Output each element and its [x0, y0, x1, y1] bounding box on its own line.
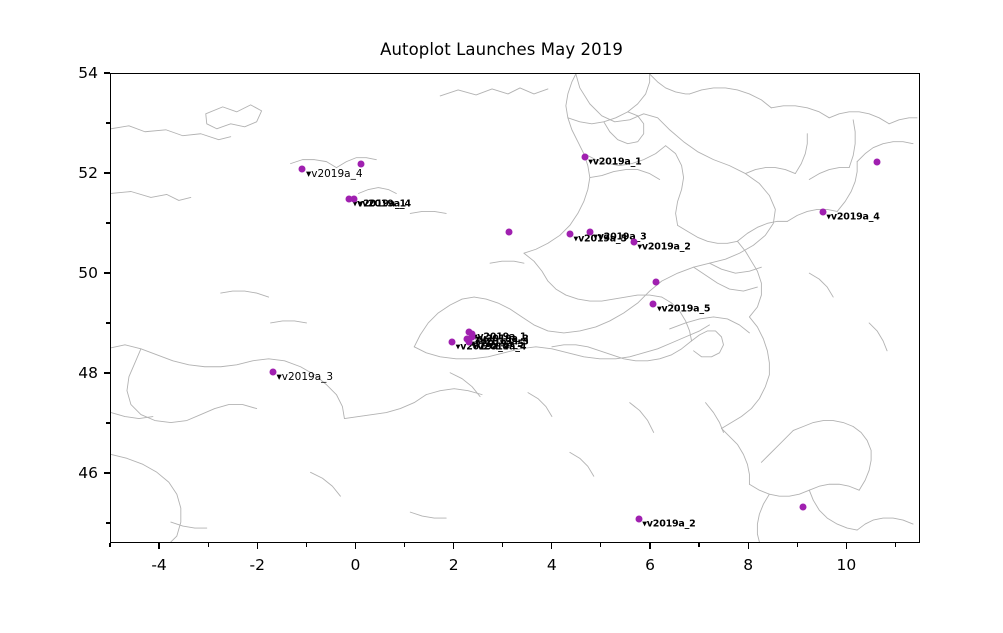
x-tick-mark-minor	[895, 543, 896, 547]
x-tick-label: 2	[449, 556, 459, 574]
x-tick-mark-minor	[698, 543, 699, 547]
x-tick-label: 8	[743, 556, 753, 574]
scatter-marker[interactable]	[581, 153, 588, 160]
x-tick-mark-minor	[208, 543, 209, 547]
point-label: ▾v2019a_4	[358, 199, 411, 209]
scatter-marker[interactable]	[466, 338, 473, 345]
point-label: ▾v2019a_1	[588, 157, 641, 167]
x-tick-label: 4	[547, 556, 557, 574]
x-tick-mark-minor	[502, 543, 503, 547]
scatter-marker[interactable]	[567, 231, 574, 238]
x-tick-mark	[649, 543, 650, 549]
y-tick-label: 54	[78, 64, 98, 82]
x-tick-mark-minor	[109, 543, 110, 547]
scatter-marker[interactable]	[800, 503, 807, 510]
x-axis-labels: -4-20246810	[110, 556, 920, 582]
point-label: ▾v2019a_5	[657, 304, 710, 314]
scatter-marker[interactable]	[630, 238, 637, 245]
scatter-marker[interactable]	[299, 166, 306, 173]
x-tick-label: 0	[351, 556, 361, 574]
scatter-marker[interactable]	[652, 278, 659, 285]
x-tick-label: -2	[250, 556, 265, 574]
scatter-marker[interactable]	[358, 161, 365, 168]
scatter-marker[interactable]	[819, 208, 826, 215]
x-tick-mark-minor	[306, 543, 307, 547]
y-axis-labels: 4648505254	[40, 73, 98, 543]
scatter-marker[interactable]	[873, 158, 880, 165]
map-coastlines	[111, 74, 919, 542]
x-tick-mark	[551, 543, 552, 549]
x-tick-label: -4	[151, 556, 166, 574]
x-tick-mark-minor	[797, 543, 798, 547]
x-tick-mark	[355, 543, 356, 549]
scatter-marker[interactable]	[270, 368, 277, 375]
y-tick-label: 48	[78, 364, 98, 382]
y-tick-label: 52	[78, 164, 98, 182]
x-tick-mark	[748, 543, 749, 549]
x-tick-mark	[158, 543, 159, 549]
point-label: ▾v2019a_4	[826, 212, 879, 222]
scatter-marker[interactable]	[449, 338, 456, 345]
figure-canvas: Autoplot Launches May 2019	[0, 0, 1003, 633]
scatter-marker[interactable]	[351, 196, 358, 203]
x-tick-mark-minor	[600, 543, 601, 547]
point-label: ▾v2019a_4	[473, 342, 526, 352]
x-tick-label: 10	[836, 556, 856, 574]
map-plot-area[interactable]: ▾v2019a_4▾v2019a_1▾v2019a_4▾v2019a_3▾v20…	[110, 73, 920, 543]
x-tick-mark-minor	[404, 543, 405, 547]
x-tick-label: 6	[645, 556, 655, 574]
scatter-marker[interactable]	[650, 301, 657, 308]
x-tick-mark	[846, 543, 847, 549]
scatter-marker[interactable]	[635, 516, 642, 523]
point-label: ▾v2019a_2	[642, 519, 695, 529]
y-tick-label: 46	[78, 464, 98, 482]
scatter-marker[interactable]	[586, 228, 593, 235]
scatter-marker[interactable]	[505, 228, 512, 235]
point-label: ▾v2019a_2	[637, 242, 690, 252]
page-title: Autoplot Launches May 2019	[0, 40, 1003, 59]
x-tick-mark	[453, 543, 454, 549]
x-tick-mark	[257, 543, 258, 549]
point-label: ▾v2019a_3	[277, 371, 334, 382]
point-label: ▾v2019a_4	[306, 169, 363, 180]
y-tick-label: 50	[78, 264, 98, 282]
